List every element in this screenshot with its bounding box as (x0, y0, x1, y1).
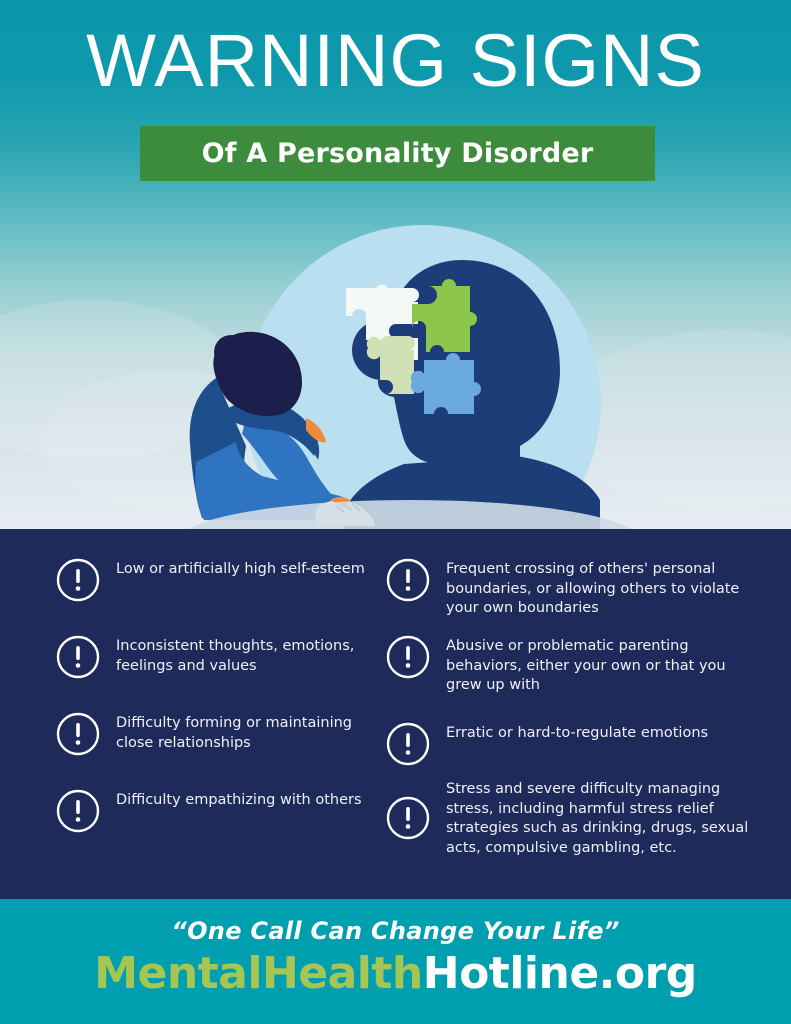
list-item-label: Frequent crossing of others' personal bo… (446, 557, 756, 619)
exclamation-circle-icon (385, 557, 431, 603)
brand-part-hotline-org: Hotline.org (423, 948, 697, 999)
list-item-label: Erratic or hard-to-regulate emotions (446, 721, 756, 744)
list-item: Stress and severe difficulty managing st… (385, 777, 756, 858)
hero-illustration (0, 200, 791, 530)
page-title: WARNING SIGNS (0, 22, 791, 100)
brand-wordmark[interactable]: MentalHealthHotline.org (0, 948, 791, 999)
seated-person-head-down (190, 332, 375, 526)
footer-band: “One Call Can Change Your Life” MentalHe… (0, 899, 791, 1024)
list-item-label: Low or artificially high self-esteem (116, 557, 381, 580)
list-item: Difficulty forming or maintaining close … (55, 711, 381, 757)
brand-part-mentalhealth: MentalHealth (94, 948, 423, 999)
warning-signs-panel: Low or artificially high self-esteem Inc… (0, 529, 791, 899)
list-item: Abusive or problematic parenting behavio… (385, 634, 756, 696)
list-item-label: Difficulty empathizing with others (116, 788, 381, 811)
exclamation-circle-icon (55, 634, 101, 680)
illustration-svg (0, 200, 791, 530)
exclamation-circle-icon (385, 634, 431, 680)
list-item-label: Stress and severe difficulty managing st… (446, 777, 756, 858)
exclamation-circle-icon (55, 788, 101, 834)
list-item-label: Inconsistent thoughts, emotions, feeling… (116, 634, 381, 676)
exclamation-circle-icon (55, 711, 101, 757)
list-item-label: Abusive or problematic parenting behavio… (446, 634, 756, 696)
infographic-poster: WARNING SIGNS Of A Personality Disorder … (0, 0, 791, 1024)
exclamation-circle-icon (385, 721, 431, 767)
list-item: Frequent crossing of others' personal bo… (385, 557, 756, 619)
footer-tagline: “One Call Can Change Your Life” (0, 917, 791, 945)
subtitle-band: Of A Personality Disorder (140, 126, 655, 181)
exclamation-circle-icon (385, 795, 431, 841)
list-item-label: Difficulty forming or maintaining close … (116, 711, 381, 753)
list-item: Inconsistent thoughts, emotions, feeling… (55, 634, 381, 680)
subtitle-text: Of A Personality Disorder (202, 138, 594, 169)
list-item: Low or artificially high self-esteem (55, 557, 381, 603)
list-item: Difficulty empathizing with others (55, 788, 381, 834)
list-item: Erratic or hard-to-regulate emotions (385, 721, 756, 767)
exclamation-circle-icon (55, 557, 101, 603)
